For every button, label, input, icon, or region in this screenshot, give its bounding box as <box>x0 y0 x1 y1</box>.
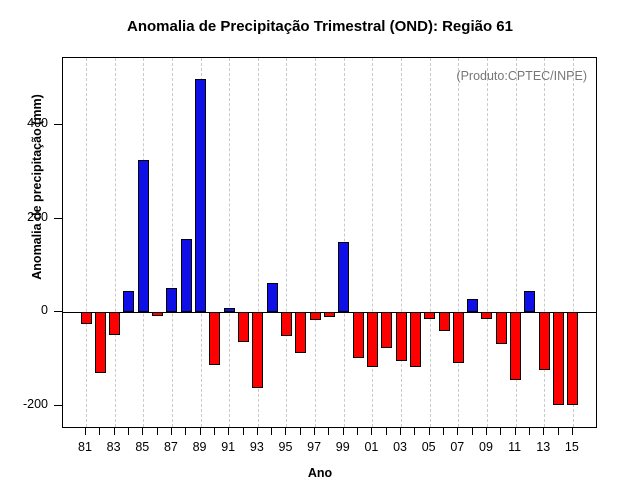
x-tick <box>572 428 573 435</box>
gridline <box>86 58 88 427</box>
x-tick <box>157 428 158 435</box>
gridline <box>172 58 174 427</box>
bar-14 <box>553 312 564 405</box>
x-tick-label: 87 <box>156 440 186 454</box>
x-tick <box>457 428 458 435</box>
y-tick-label: 0 <box>0 304 48 317</box>
bar-05 <box>424 312 435 319</box>
bar-07 <box>453 312 464 363</box>
bar-11 <box>510 312 521 380</box>
x-tick-label: 99 <box>328 440 358 454</box>
y-tick <box>54 124 62 125</box>
gridline <box>544 58 546 427</box>
x-tick-label: 03 <box>385 440 415 454</box>
plot-area: (Produto:CPTEC/INPE) <box>62 57 597 428</box>
y-tick-label: 400 <box>0 117 48 130</box>
product-annotation: (Produto:CPTEC/INPE) <box>456 69 587 83</box>
x-tick <box>400 428 401 435</box>
x-tick <box>214 428 215 435</box>
x-tick <box>185 428 186 435</box>
bar-94 <box>267 283 278 312</box>
x-tick <box>357 428 358 435</box>
gridline <box>487 58 489 427</box>
bar-15 <box>567 312 578 405</box>
bar-81 <box>81 312 92 324</box>
x-tick <box>128 428 129 435</box>
x-tick <box>443 428 444 435</box>
x-tick-label: 13 <box>528 440 558 454</box>
bar-87 <box>166 288 177 312</box>
gridline <box>115 58 117 427</box>
bar-90 <box>209 312 220 365</box>
x-tick <box>529 428 530 435</box>
bar-83 <box>109 312 120 335</box>
chart-title: Anomalia de Precipitação Trimestral (OND… <box>0 18 640 35</box>
x-tick <box>558 428 559 435</box>
gridline <box>458 58 460 427</box>
x-tick <box>114 428 115 435</box>
x-tick <box>243 428 244 435</box>
zero-baseline <box>63 312 597 313</box>
x-tick <box>386 428 387 435</box>
x-tick-label: 95 <box>270 440 300 454</box>
x-tick <box>314 428 315 435</box>
y-axis-label: Anomalia de precipitação (mm) <box>30 57 44 317</box>
x-tick <box>328 428 329 435</box>
x-tick-label: 83 <box>99 440 129 454</box>
x-tick-label: 05 <box>414 440 444 454</box>
bar-13 <box>539 312 550 370</box>
x-tick <box>257 428 258 435</box>
bar-84 <box>123 291 134 312</box>
gridline <box>315 58 317 427</box>
x-tick-label: 81 <box>70 440 100 454</box>
x-tick-label: 89 <box>185 440 215 454</box>
bar-82 <box>95 312 106 373</box>
x-tick-label: 93 <box>242 440 272 454</box>
x-tick <box>171 428 172 435</box>
x-tick-label: 01 <box>356 440 386 454</box>
x-tick <box>371 428 372 435</box>
gridline <box>372 58 374 427</box>
x-tick <box>500 428 501 435</box>
x-tick-label: 91 <box>213 440 243 454</box>
x-tick <box>142 428 143 435</box>
bar-01 <box>367 312 378 367</box>
x-tick <box>99 428 100 435</box>
x-tick <box>515 428 516 435</box>
chart-root: Anomalia de Precipitação Trimestral (OND… <box>0 0 640 500</box>
y-tick <box>54 311 62 312</box>
x-tick-label: 97 <box>299 440 329 454</box>
y-tick-label: 200 <box>0 211 48 224</box>
gridline <box>229 58 231 427</box>
gridline <box>286 58 288 427</box>
x-tick <box>228 428 229 435</box>
bar-02 <box>381 312 392 348</box>
y-tick-label: -200 <box>0 398 48 411</box>
x-tick <box>343 428 344 435</box>
bar-97 <box>310 312 321 320</box>
bar-03 <box>396 312 407 361</box>
bar-04 <box>410 312 421 367</box>
bar-95 <box>281 312 292 336</box>
gridline <box>430 58 432 427</box>
bar-09 <box>481 312 492 319</box>
bar-08 <box>467 299 478 312</box>
x-tick-label: 85 <box>127 440 157 454</box>
bar-00 <box>353 312 364 358</box>
bar-96 <box>295 312 306 353</box>
x-tick <box>271 428 272 435</box>
x-tick <box>300 428 301 435</box>
bar-10 <box>496 312 507 344</box>
bar-99 <box>338 242 349 312</box>
bar-88 <box>181 239 192 312</box>
bar-12 <box>524 291 535 312</box>
x-tick-label: 07 <box>442 440 472 454</box>
gridline <box>401 58 403 427</box>
x-tick <box>486 428 487 435</box>
y-tick <box>54 405 62 406</box>
y-tick <box>54 218 62 219</box>
x-tick-label: 09 <box>471 440 501 454</box>
bar-89 <box>195 79 206 312</box>
bar-92 <box>238 312 249 342</box>
bar-06 <box>439 312 450 331</box>
x-axis-label: Ano <box>0 466 640 480</box>
bar-85 <box>138 160 149 312</box>
x-tick-label: 11 <box>500 440 530 454</box>
x-tick-label: 15 <box>557 440 587 454</box>
x-tick <box>543 428 544 435</box>
x-tick <box>85 428 86 435</box>
x-tick <box>429 428 430 435</box>
x-tick <box>285 428 286 435</box>
bar-93 <box>252 312 263 388</box>
x-tick <box>472 428 473 435</box>
x-tick <box>200 428 201 435</box>
x-tick <box>414 428 415 435</box>
